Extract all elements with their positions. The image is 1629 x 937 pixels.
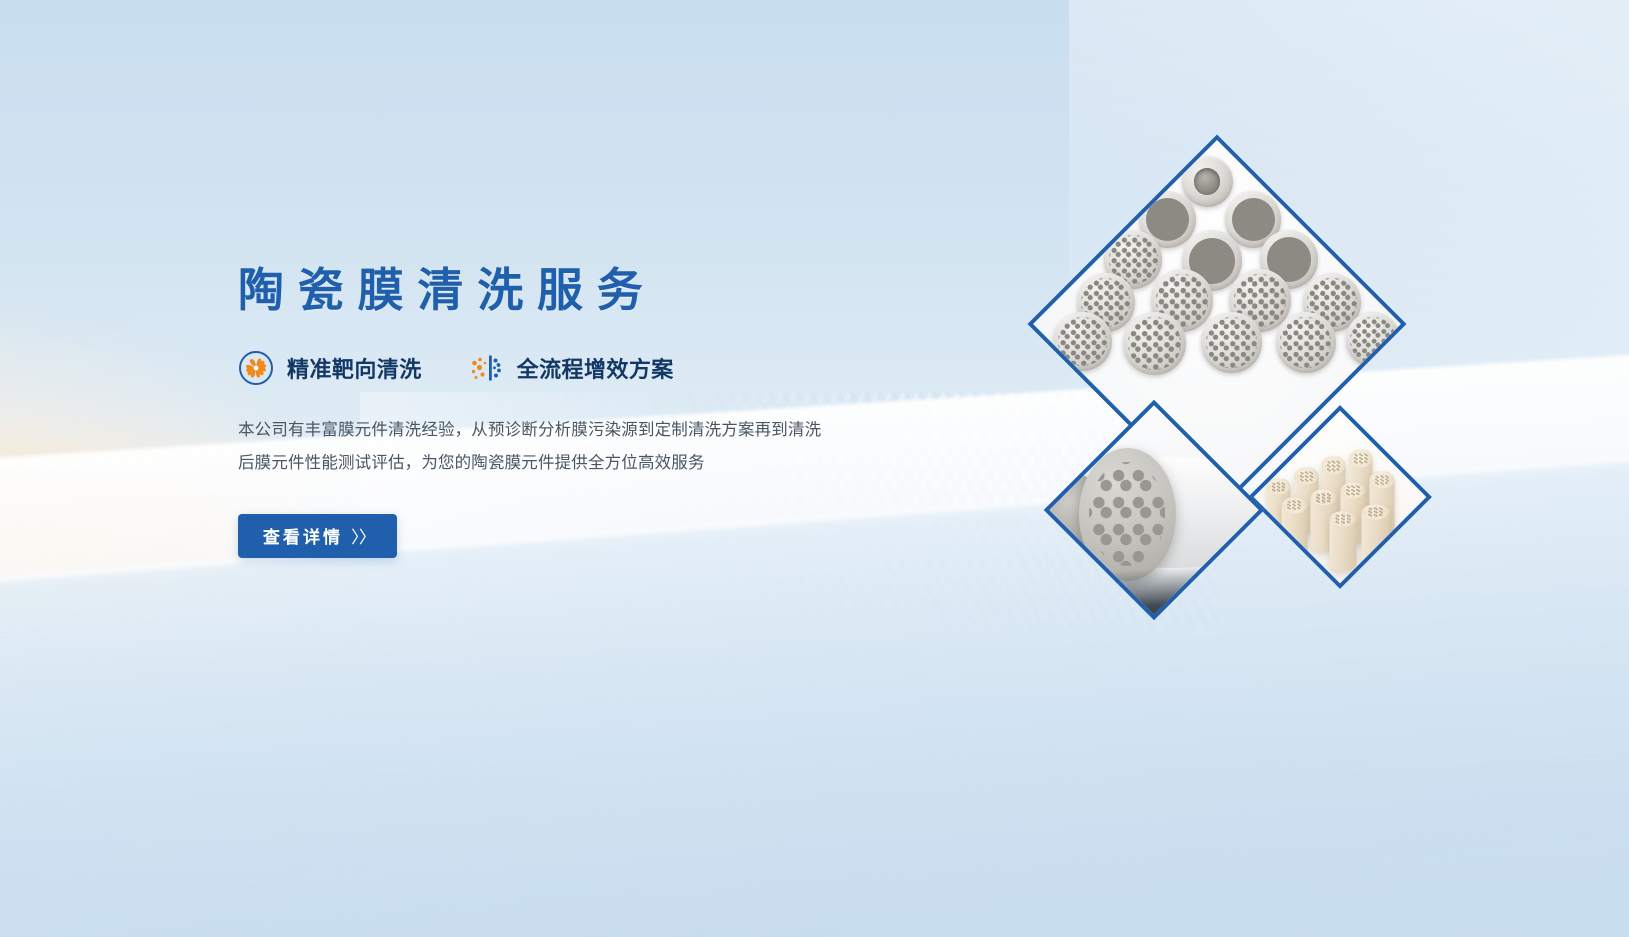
hero-description: 本公司有丰富膜元件清洗经验，从预诊断分析膜污染源到定制清洗方案再到清洗 后膜元件…	[238, 414, 908, 480]
feature-badge-full-process: 全流程增效方案	[468, 350, 674, 386]
hero-banner: 陶瓷膜清洗服务	[0, 0, 1629, 937]
pinwheel-icon	[238, 350, 274, 386]
view-details-button-label: 查看详情	[260, 523, 343, 548]
chevron-right-double-icon: 〉〉	[351, 523, 375, 548]
description-line: 本公司有丰富膜元件清洗经验，从预诊断分析膜污染源到定制清洗方案再到清洗	[238, 414, 908, 447]
diamond-image-group	[1010, 160, 1450, 660]
description-line: 后膜元件性能测试评估，为您的陶瓷膜元件提供全方位高效服务	[238, 447, 908, 480]
feature-badge-label: 全流程增效方案	[517, 352, 674, 384]
feature-badge-list: 精准靶向清洗	[238, 350, 958, 386]
filter-flow-icon	[468, 350, 504, 386]
feature-badge-label: 精准靶向清洗	[287, 352, 422, 384]
feature-badge-precision-cleaning: 精准靶向清洗	[238, 350, 422, 386]
hero-content: 陶瓷膜清洗服务	[238, 262, 958, 558]
view-details-button[interactable]: 查看详情 〉〉	[238, 514, 397, 558]
page-title: 陶瓷膜清洗服务	[238, 262, 958, 320]
